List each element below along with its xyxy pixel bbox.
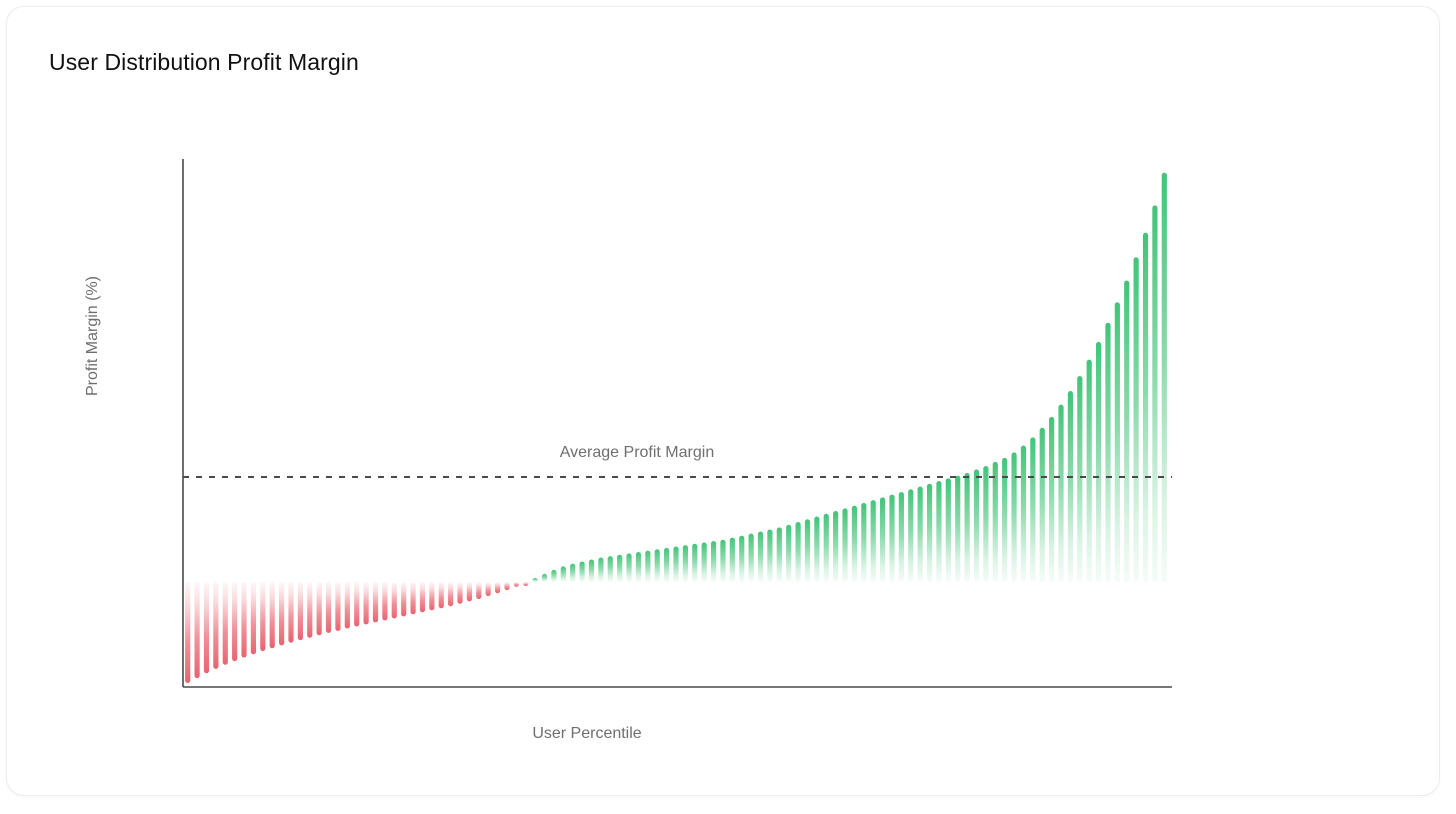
bar bbox=[1077, 376, 1082, 582]
bar bbox=[955, 476, 960, 582]
bar bbox=[410, 582, 415, 614]
bar bbox=[1115, 302, 1120, 582]
bar bbox=[720, 540, 725, 582]
bar bbox=[251, 582, 256, 654]
bar bbox=[589, 559, 594, 582]
distribution-bar-chart bbox=[7, 7, 1441, 797]
bar bbox=[288, 582, 293, 643]
bar bbox=[185, 582, 190, 683]
bar bbox=[739, 536, 744, 582]
bar bbox=[833, 511, 838, 582]
bar bbox=[795, 522, 800, 582]
bar bbox=[749, 534, 754, 582]
bar bbox=[899, 492, 904, 582]
bar bbox=[786, 525, 791, 582]
bar bbox=[533, 578, 538, 582]
bar bbox=[580, 562, 585, 582]
bar bbox=[1152, 205, 1157, 582]
bar bbox=[993, 462, 998, 582]
bar bbox=[683, 545, 688, 582]
bar bbox=[1040, 428, 1045, 582]
bar bbox=[626, 553, 631, 582]
bar bbox=[918, 486, 923, 582]
bar bbox=[401, 582, 406, 616]
bar bbox=[842, 508, 847, 582]
bar bbox=[655, 549, 660, 582]
bar bbox=[814, 517, 819, 583]
bar bbox=[758, 532, 763, 582]
bar bbox=[223, 582, 228, 665]
bar bbox=[504, 582, 509, 590]
bar bbox=[570, 564, 575, 582]
bar bbox=[927, 484, 932, 582]
bar bbox=[805, 519, 810, 582]
bar bbox=[448, 582, 453, 606]
bar bbox=[598, 557, 603, 582]
bar bbox=[260, 582, 265, 651]
bar bbox=[824, 514, 829, 582]
bar bbox=[664, 548, 669, 582]
bar bbox=[692, 544, 697, 582]
bar bbox=[392, 582, 397, 618]
bar bbox=[429, 582, 434, 610]
bar bbox=[965, 473, 970, 582]
bar bbox=[608, 556, 613, 582]
bar bbox=[1162, 173, 1167, 582]
bar bbox=[317, 582, 322, 635]
bar bbox=[936, 481, 941, 582]
bar bbox=[702, 542, 707, 582]
bar bbox=[1096, 342, 1101, 582]
bar bbox=[889, 495, 894, 582]
bar bbox=[514, 582, 519, 587]
bar bbox=[861, 503, 866, 582]
bar bbox=[871, 500, 876, 582]
bar bbox=[1124, 280, 1129, 582]
bar bbox=[476, 582, 481, 599]
bar bbox=[495, 582, 500, 593]
bar bbox=[307, 582, 312, 638]
bar bbox=[767, 529, 772, 582]
bar bbox=[1021, 446, 1026, 582]
bar bbox=[542, 574, 547, 582]
bar bbox=[439, 582, 444, 608]
bar bbox=[279, 582, 284, 645]
bar bbox=[852, 506, 857, 582]
bar bbox=[561, 566, 566, 582]
average-profit-margin-label: Average Profit Margin bbox=[437, 444, 837, 462]
bar bbox=[213, 582, 218, 669]
bar bbox=[382, 582, 387, 620]
y-axis-label: Profit Margin (%) bbox=[84, 246, 102, 426]
bar bbox=[420, 582, 425, 612]
bar bbox=[1134, 257, 1139, 582]
bar bbox=[523, 582, 528, 586]
bar bbox=[298, 582, 303, 640]
bar bbox=[1030, 437, 1035, 582]
bar bbox=[467, 582, 472, 601]
bar bbox=[1087, 360, 1092, 582]
bar bbox=[354, 582, 359, 626]
bar bbox=[194, 582, 199, 678]
bar bbox=[204, 582, 209, 673]
bar bbox=[373, 582, 378, 622]
bar bbox=[326, 582, 331, 633]
bar bbox=[777, 527, 782, 582]
bar bbox=[908, 489, 913, 582]
bar bbox=[673, 547, 678, 582]
bar bbox=[1011, 452, 1016, 582]
bar bbox=[974, 469, 979, 582]
bar bbox=[335, 582, 340, 631]
bar bbox=[983, 466, 988, 582]
bar bbox=[1068, 391, 1073, 582]
bar bbox=[486, 582, 491, 596]
bar bbox=[711, 541, 716, 582]
bar bbox=[551, 570, 556, 582]
bar bbox=[1058, 405, 1063, 582]
plot-area: Profit Margin (%) User Percentile Averag… bbox=[7, 7, 1441, 797]
bar bbox=[232, 582, 237, 661]
chart-card: User Distribution Profit Margin Profit M… bbox=[6, 6, 1440, 796]
bars-group bbox=[185, 173, 1167, 683]
bar bbox=[270, 582, 275, 648]
bar bbox=[636, 552, 641, 582]
bar bbox=[946, 478, 951, 582]
bar bbox=[880, 497, 885, 582]
bar bbox=[1049, 417, 1054, 582]
bar bbox=[617, 555, 622, 582]
bar bbox=[345, 582, 350, 628]
bar bbox=[241, 582, 246, 658]
bar bbox=[1105, 323, 1110, 582]
bar bbox=[457, 582, 462, 604]
x-axis-label: User Percentile bbox=[7, 725, 1167, 743]
bar bbox=[730, 538, 735, 582]
bar bbox=[1143, 233, 1148, 582]
bar bbox=[364, 582, 369, 624]
bar bbox=[645, 551, 650, 582]
